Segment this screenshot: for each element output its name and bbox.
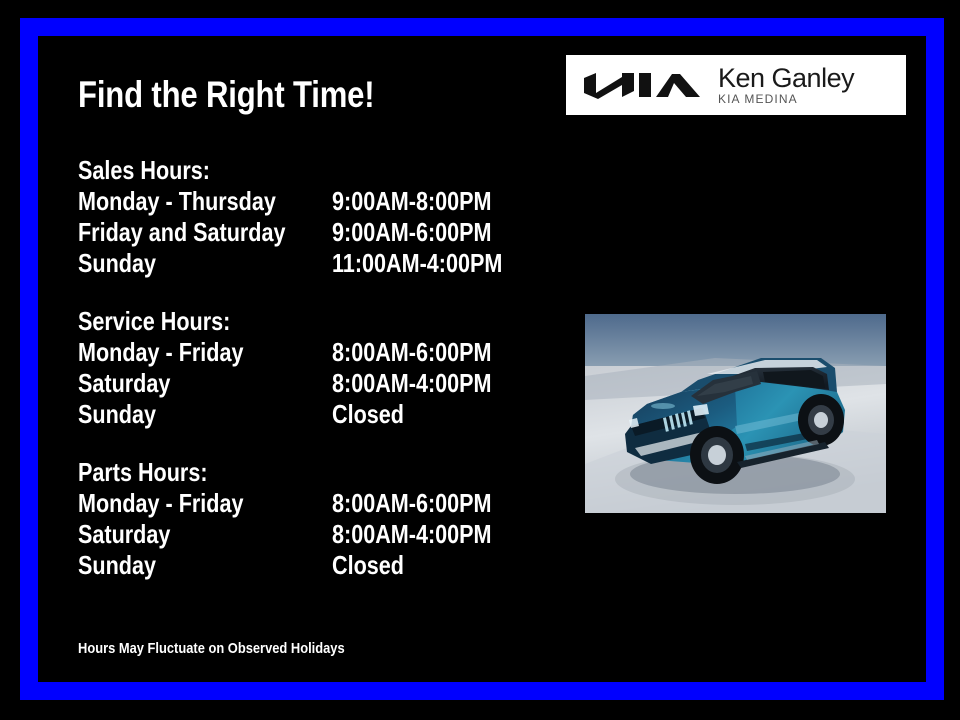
hours-row: Saturday8:00AM-4:00PM: [78, 368, 548, 399]
hours-row-time: 8:00AM-4:00PM: [332, 519, 492, 550]
dealer-subtitle: KIA MEDINA: [718, 92, 854, 106]
hours-row: SundayClosed: [78, 550, 548, 581]
hours-row-time: 11:00AM-4:00PM: [332, 248, 502, 279]
hours-block-heading: Sales Hours:: [78, 155, 468, 186]
hours-block: Sales Hours:Monday - Thursday9:00AM-8:00…: [78, 155, 548, 279]
hours-row-days: Monday - Friday: [78, 488, 243, 519]
hours-row-time: 9:00AM-8:00PM: [332, 186, 492, 217]
hours-row: Monday - Friday8:00AM-6:00PM: [78, 488, 548, 519]
kia-logo-icon: [582, 69, 702, 101]
holiday-disclaimer: Hours May Fluctuate on Observed Holidays: [78, 640, 345, 657]
hours-row-time: 8:00AM-6:00PM: [332, 488, 492, 519]
hours-block-heading: Service Hours:: [78, 306, 468, 337]
hours-row: Friday and Saturday9:00AM-6:00PM: [78, 217, 548, 248]
dealer-logo-text: Ken Ganley KIA MEDINA: [718, 64, 854, 106]
hours-row-days: Friday and Saturday: [78, 217, 285, 248]
hours-row-days: Monday - Thursday: [78, 186, 276, 217]
hours-row-time: Closed: [332, 550, 404, 581]
hours-row-days: Sunday: [78, 399, 156, 430]
hours-row-days: Sunday: [78, 248, 156, 279]
hours-row: SundayClosed: [78, 399, 548, 430]
hours-block: Service Hours:Monday - Friday8:00AM-6:00…: [78, 306, 548, 430]
hours-row: Saturday8:00AM-4:00PM: [78, 519, 548, 550]
hours-block: Parts Hours:Monday - Friday8:00AM-6:00PM…: [78, 457, 548, 581]
hours-row-days: Saturday: [78, 519, 170, 550]
hours-row-days: Monday - Friday: [78, 337, 243, 368]
hours-row: Monday - Thursday9:00AM-8:00PM: [78, 186, 548, 217]
slide-root: Find the Right Time! Sales Hours:Monday …: [0, 0, 960, 720]
dealer-name: Ken Ganley: [718, 64, 854, 92]
hours-row-days: Saturday: [78, 368, 170, 399]
hours-sections: Sales Hours:Monday - Thursday9:00AM-8:00…: [78, 155, 548, 581]
page-title: Find the Right Time!: [78, 76, 374, 115]
hours-row: Sunday11:00AM-4:00PM: [78, 248, 548, 279]
hours-row-days: Sunday: [78, 550, 156, 581]
hours-row-time: Closed: [332, 399, 404, 430]
hours-block-heading: Parts Hours:: [78, 457, 468, 488]
hours-row-time: 8:00AM-6:00PM: [332, 337, 492, 368]
hours-row-time: 9:00AM-6:00PM: [332, 217, 492, 248]
hours-row: Monday - Friday8:00AM-6:00PM: [78, 337, 548, 368]
kia-ev9-suv-photo: [585, 314, 886, 513]
dealer-logo: Ken Ganley KIA MEDINA: [566, 55, 906, 115]
hours-row-time: 8:00AM-4:00PM: [332, 368, 492, 399]
